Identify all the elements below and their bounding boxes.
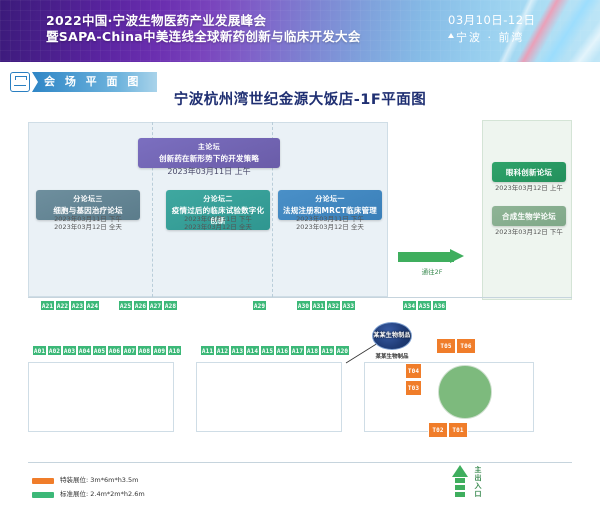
booth-t05[interactable]: T05 bbox=[436, 338, 456, 354]
booth-a09[interactable]: A09 bbox=[152, 345, 167, 356]
booth-a06[interactable]: A06 bbox=[107, 345, 122, 356]
forum-sub2-time: 2023年03月11日 下午 2023年03月12日 全天 bbox=[166, 215, 270, 231]
forum-synthetic-biology-time: 2023年03月12日 下午 bbox=[492, 228, 566, 236]
booth-a36[interactable]: A36 bbox=[432, 300, 447, 311]
entrance-arrow-segment bbox=[455, 492, 465, 497]
main-entrance-arrow-icon bbox=[452, 465, 468, 501]
banner-meta: 03月10日-12日 宁波 · 前湾 bbox=[448, 12, 536, 46]
booth-a22[interactable]: A22 bbox=[55, 300, 70, 311]
to-2f-label: 通往2F bbox=[398, 266, 466, 276]
booth-group-upper-2: A25A26A27A28 bbox=[118, 300, 178, 311]
booth-a12[interactable]: A12 bbox=[215, 345, 230, 356]
booth-a25[interactable]: A25 bbox=[118, 300, 133, 311]
banner-location-text: 宁波 · 前湾 bbox=[456, 31, 525, 44]
banner-title-line2: 暨SAPA-China中美连线全球新药创新与临床开发大会 bbox=[46, 29, 361, 45]
forum-synthetic-biology-name: 合成生物学论坛 bbox=[496, 212, 562, 222]
booth-a21[interactable]: A21 bbox=[40, 300, 55, 311]
booth-group-upper-4: A30A31A32A33 bbox=[296, 300, 356, 311]
booth-group-lower-1: A01A02A03A04A05A06A07A08A09A10 bbox=[32, 345, 182, 356]
booth-a13[interactable]: A13 bbox=[230, 345, 245, 356]
banner-date: 03月10日-12日 bbox=[448, 12, 536, 29]
booth-a04[interactable]: A04 bbox=[77, 345, 92, 356]
banner-location: 宁波 · 前湾 bbox=[448, 29, 536, 46]
banner-title-line1: 2022中国·宁波生物医药产业发展峰会 bbox=[46, 13, 361, 29]
corridor-line bbox=[28, 297, 572, 298]
booth-t02[interactable]: T02 bbox=[428, 422, 448, 438]
bottom-wall-line bbox=[28, 462, 572, 463]
forum-sub2-tag: 分论坛二 bbox=[170, 194, 266, 204]
to-2f-arrow-icon bbox=[398, 250, 466, 264]
forum-synthetic-biology[interactable]: 合成生物学论坛 bbox=[492, 206, 566, 226]
booth-a34[interactable]: A34 bbox=[402, 300, 417, 311]
booth-a30[interactable]: A30 bbox=[296, 300, 311, 311]
lower-hall-2 bbox=[196, 362, 342, 432]
forum-sub3-time: 2023年03月11日 下午 2023年03月12日 全天 bbox=[36, 215, 140, 231]
page-title: 宁波杭州湾世纪金源大饭店-1F平面图 bbox=[0, 88, 600, 109]
forum-main-tag: 主论坛 bbox=[142, 142, 276, 152]
location-pin-icon bbox=[448, 33, 454, 38]
forum-main-name: 创新药在新形势下的开发策略 bbox=[142, 154, 276, 164]
banner-title: 2022中国·宁波生物医药产业发展峰会 暨SAPA-China中美连线全球新药创… bbox=[46, 13, 361, 45]
forum-ophthalmology-name: 眼科创新论坛 bbox=[496, 168, 562, 178]
booth-a33[interactable]: A33 bbox=[341, 300, 356, 311]
booth-group-upper-3: A29 bbox=[252, 300, 267, 311]
lower-hall-1 bbox=[28, 362, 174, 432]
booth-a35[interactable]: A35 bbox=[417, 300, 432, 311]
booth-a17[interactable]: A17 bbox=[290, 345, 305, 356]
entrance-arrow-head bbox=[452, 465, 468, 477]
booth-a24[interactable]: A24 bbox=[85, 300, 100, 311]
booth-a03[interactable]: A03 bbox=[62, 345, 77, 356]
booth-a10[interactable]: A10 bbox=[167, 345, 182, 356]
exhibitor-logo[interactable]: 某某生物制品 bbox=[372, 322, 412, 350]
booth-group-lower-2: A11A12A13A14A15A16A17A18A19A20 bbox=[200, 345, 350, 356]
booth-a02[interactable]: A02 bbox=[47, 345, 62, 356]
central-stage bbox=[438, 365, 492, 419]
forum-ophthalmology-time: 2023年03月12日 上午 bbox=[492, 184, 566, 192]
booth-a27[interactable]: A27 bbox=[148, 300, 163, 311]
forum-sub1-tag: 分论坛一 bbox=[282, 194, 378, 204]
booth-a28[interactable]: A28 bbox=[163, 300, 178, 311]
legend-label-premium: 特装展位: 3m*6m*h3.5m bbox=[60, 475, 138, 486]
forum-main[interactable]: 主论坛 创新药在新形势下的开发策略 bbox=[138, 138, 280, 168]
booth-a16[interactable]: A16 bbox=[275, 345, 290, 356]
exhibitor-logo-text: 某某生物制品 bbox=[373, 330, 411, 339]
booth-a23[interactable]: A23 bbox=[70, 300, 85, 311]
legend-label-standard: 标准展位: 2.4m*2m*h2.6m bbox=[60, 489, 145, 500]
forum-main-time: 2023年03月11日 上午 bbox=[138, 168, 280, 176]
entrance-arrow-segment bbox=[455, 478, 465, 483]
legend-item-standard: 标准展位: 2.4m*2m*h2.6m bbox=[32, 489, 145, 500]
forum-ophthalmology[interactable]: 眼科创新论坛 bbox=[492, 162, 566, 182]
forum-sub1-time: 2023年03月11日 下午 2023年03月12日 全天 bbox=[278, 215, 382, 231]
booth-group-upper-5: A34A35A36 bbox=[402, 300, 447, 311]
exhibitor-logo-caption: 某某生物制品 bbox=[362, 352, 422, 360]
legend: 特装展位: 3m*6m*h3.5m 标准展位: 2.4m*2m*h2.6m bbox=[32, 475, 145, 503]
arrow-head bbox=[450, 249, 464, 263]
booth-group-t-bottom: T02T01 bbox=[428, 422, 468, 438]
booth-t01[interactable]: T01 bbox=[448, 422, 468, 438]
booth-a29[interactable]: A29 bbox=[252, 300, 267, 311]
entrance-arrow-segment bbox=[455, 485, 465, 490]
booth-a32[interactable]: A32 bbox=[326, 300, 341, 311]
arrow-shaft bbox=[398, 252, 454, 262]
booth-t03[interactable]: T03 bbox=[405, 380, 422, 396]
booth-a31[interactable]: A31 bbox=[311, 300, 326, 311]
legend-item-premium: 特装展位: 3m*6m*h3.5m bbox=[32, 475, 145, 486]
booth-t04[interactable]: T04 bbox=[405, 363, 422, 379]
floor-plan-canvas: 主论坛 创新药在新形势下的开发策略 2023年03月11日 上午 分论坛三 细胞… bbox=[0, 110, 600, 505]
booth-group-t-top: T05T06 bbox=[436, 338, 476, 354]
legend-swatch-standard-icon bbox=[32, 492, 54, 498]
booth-a05[interactable]: A05 bbox=[92, 345, 107, 356]
booth-group-upper-1: A21A22A23A24 bbox=[40, 300, 100, 311]
booth-a26[interactable]: A26 bbox=[133, 300, 148, 311]
floor-plan-page: 2022中国·宁波生物医药产业发展峰会 暨SAPA-China中美连线全球新药创… bbox=[0, 0, 600, 505]
main-entrance-label: 主出入口 bbox=[472, 466, 484, 498]
event-banner: 2022中国·宁波生物医药产业发展峰会 暨SAPA-China中美连线全球新药创… bbox=[0, 0, 600, 62]
booth-a18[interactable]: A18 bbox=[305, 345, 320, 356]
booth-a11[interactable]: A11 bbox=[200, 345, 215, 356]
legend-swatch-premium-icon bbox=[32, 478, 54, 484]
booth-a14[interactable]: A14 bbox=[245, 345, 260, 356]
booth-a15[interactable]: A15 bbox=[260, 345, 275, 356]
booth-a19[interactable]: A19 bbox=[320, 345, 335, 356]
forum-sub3-tag: 分论坛三 bbox=[40, 194, 136, 204]
booth-a08[interactable]: A08 bbox=[137, 345, 152, 356]
booth-t06[interactable]: T06 bbox=[456, 338, 476, 354]
booth-a07[interactable]: A07 bbox=[122, 345, 137, 356]
booth-group-t-left: T04T03 bbox=[405, 363, 422, 397]
booth-a01[interactable]: A01 bbox=[32, 345, 47, 356]
